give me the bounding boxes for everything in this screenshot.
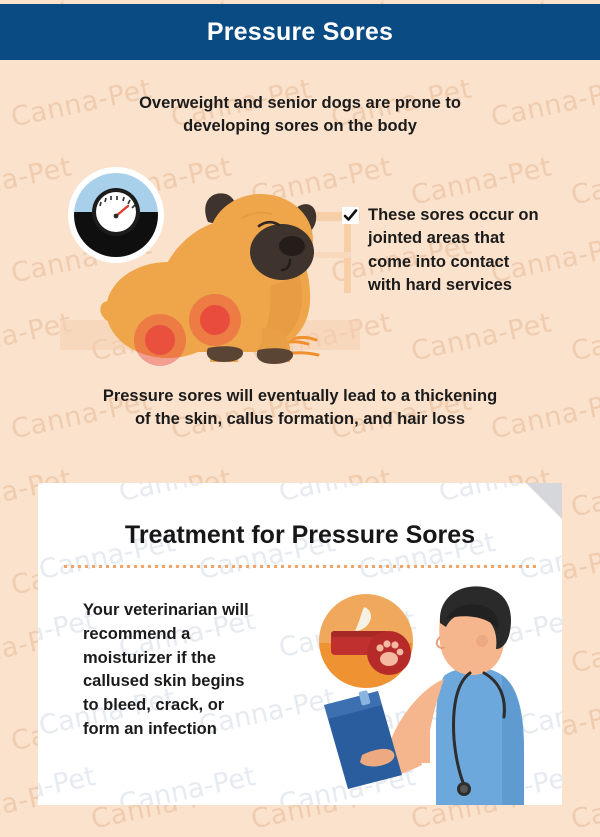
watermark-text: Canna-Pet	[568, 775, 600, 835]
intro-text: Overweight and senior dogs are prone to …	[0, 92, 600, 138]
card-body-line-1: Your veterinarian will	[83, 599, 288, 623]
infographic-page: Canna-PetCanna-PetCanna-PetCanna-PetCann…	[0, 0, 600, 837]
card-body-line-3: moisturizer if the	[83, 647, 288, 671]
bullet-line-2: jointed areas that	[368, 227, 539, 250]
ointment-jar-paw-icon	[316, 591, 416, 695]
veterinarian-illustration	[306, 579, 556, 805]
bullet-line-1: These sores occur on	[368, 204, 539, 227]
watermark-text: Canna-Pet	[568, 307, 600, 367]
card-body-line-4: callused skin begins	[83, 670, 288, 694]
watermark-text: Canna-Pet	[276, 483, 418, 508]
card-body-line-5: to bleed, crack, or	[83, 694, 288, 718]
watermark-text: Canna-Pet	[408, 307, 554, 367]
mid-line-2: of the skin, callus formation, and hair …	[0, 408, 600, 431]
intro-line-1: Overweight and senior dogs are prone to	[0, 92, 600, 115]
bullet-text: These sores occur on jointed areas that …	[368, 204, 539, 298]
watermark-text: Canna-Pet	[408, 151, 554, 211]
watermark-text: Canna-Pet	[568, 619, 600, 679]
mid-text: Pressure sores will eventually lead to a…	[0, 385, 600, 432]
bullet-item: These sores occur on jointed areas that …	[342, 204, 572, 298]
dog-illustration	[60, 160, 360, 375]
bathroom-scale-icon	[68, 167, 164, 266]
treatment-card: Canna-PetCanna-PetCanna-PetCanna-PetCann…	[38, 483, 562, 805]
watermark-text: Canna-Pet	[38, 483, 98, 508]
bullet-line-3: come into contact	[368, 251, 539, 274]
card-divider	[64, 565, 536, 568]
intro-line-2: developing sores on the body	[0, 115, 600, 138]
card-title: Treatment for Pressure Sores	[38, 521, 562, 550]
card-body-line-2: recommend a	[83, 623, 288, 647]
card-fold-corner	[526, 483, 562, 519]
card-body-line-6: form an infection	[83, 718, 288, 742]
mid-line-1: Pressure sores will eventually lead to a…	[0, 385, 600, 408]
page-title: Pressure Sores	[207, 18, 393, 47]
bullet-line-4: with hard services	[368, 274, 539, 297]
clipboard-shape	[324, 690, 402, 789]
check-icon	[342, 207, 359, 224]
watermark-text: Canna-Pet	[38, 761, 98, 805]
watermark-text: Canna-Pet	[116, 761, 258, 805]
watermark-text: Canna-Pet	[568, 151, 600, 211]
header-banner: Pressure Sores	[0, 4, 600, 60]
watermark-text: Canna-Pet	[116, 483, 258, 508]
card-body-text: Your veterinarian will recommend a moist…	[83, 599, 288, 742]
watermark-text: Canna-Pet	[568, 463, 600, 523]
